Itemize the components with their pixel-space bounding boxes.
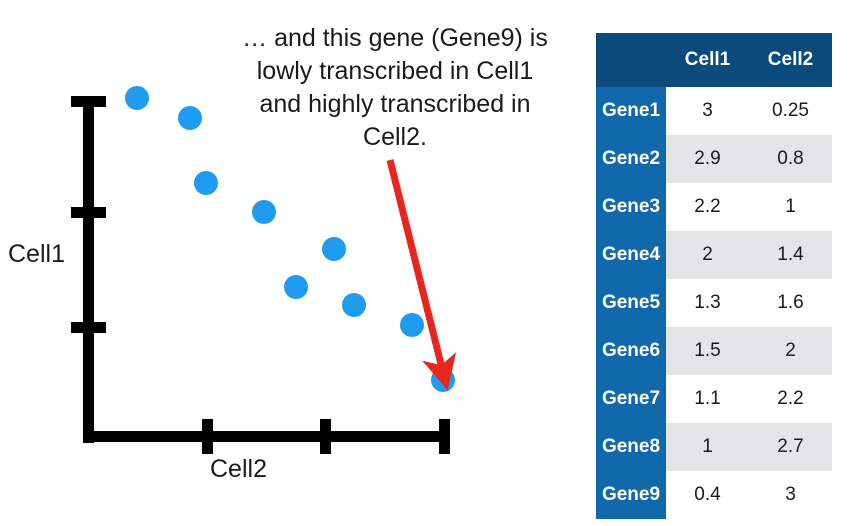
cell-gene6-cell1: 1.5 (666, 327, 749, 375)
cell-gene9-cell1: 0.4 (666, 471, 749, 519)
cell-gene5-cell2: 1.6 (749, 279, 832, 327)
y-axis-tick (71, 322, 106, 333)
x-axis-tick (202, 419, 213, 454)
cell-gene7-cell1: 1.1 (666, 375, 749, 423)
figure-canvas: Cell1 Cell2 … and this gene (Gene9) is l… (0, 0, 867, 526)
data-point-gene8 (400, 313, 424, 337)
table-row: Gene90.43 (596, 471, 832, 519)
cell-gene8-cell2: 2.7 (749, 423, 832, 471)
cell-gene4-cell2: 1.4 (749, 231, 832, 279)
column-header-cell2: Cell2 (749, 33, 832, 87)
x-axis-tick (320, 419, 331, 454)
row-header-gene7: Gene7 (596, 375, 666, 423)
row-header-gene8: Gene8 (596, 423, 666, 471)
y-axis-tick (71, 207, 106, 218)
x-axis-label: Cell2 (210, 455, 267, 484)
cell-gene2-cell2: 0.8 (749, 135, 832, 183)
row-header-gene9: Gene9 (596, 471, 666, 519)
column-header-cell1: Cell1 (666, 33, 749, 87)
data-point-gene5 (322, 237, 346, 261)
table-header-row: Cell1 Cell2 (596, 33, 832, 87)
row-header-gene2: Gene2 (596, 135, 666, 183)
cell-gene4-cell1: 2 (666, 231, 749, 279)
annotation-text: … and this gene (Gene9) is lowly transcr… (205, 22, 585, 154)
row-header-gene3: Gene3 (596, 183, 666, 231)
cell-gene1-cell1: 3 (666, 87, 749, 135)
x-axis-tick (439, 419, 450, 454)
cell-gene7-cell2: 2.2 (749, 375, 832, 423)
table-row: Gene71.12.2 (596, 375, 832, 423)
y-axis-label: Cell1 (8, 240, 65, 269)
cell-gene5-cell1: 1.3 (666, 279, 749, 327)
table-row: Gene421.4 (596, 231, 832, 279)
data-point-gene1 (125, 86, 149, 110)
table-row: Gene32.21 (596, 183, 832, 231)
cell-gene3-cell2: 1 (749, 183, 832, 231)
row-header-gene6: Gene6 (596, 327, 666, 375)
cell-gene2-cell1: 2.9 (666, 135, 749, 183)
data-point-gene9 (431, 368, 455, 392)
row-header-gene1: Gene1 (596, 87, 666, 135)
table-row: Gene51.31.6 (596, 279, 832, 327)
cell-gene6-cell2: 2 (749, 327, 832, 375)
data-point-gene7 (342, 293, 366, 317)
cell-gene3-cell1: 2.2 (666, 183, 749, 231)
gene-expression-table: Cell1 Cell2 Gene130.25Gene22.90.8Gene32.… (596, 33, 832, 519)
cell-gene9-cell2: 3 (749, 471, 832, 519)
y-axis-tick (71, 96, 106, 107)
row-header-gene4: Gene4 (596, 231, 666, 279)
data-point-gene4 (252, 200, 276, 224)
data-point-gene6 (284, 275, 308, 299)
cell-gene1-cell2: 0.25 (749, 87, 832, 135)
table-corner-cell (596, 33, 666, 87)
y-axis-line (83, 96, 94, 443)
table-body: Gene130.25Gene22.90.8Gene32.21Gene421.4G… (596, 87, 832, 519)
row-header-gene5: Gene5 (596, 279, 666, 327)
table-row: Gene812.7 (596, 423, 832, 471)
x-axis-line (83, 431, 450, 442)
table-row: Gene130.25 (596, 87, 832, 135)
cell-gene8-cell1: 1 (666, 423, 749, 471)
data-point-gene2 (178, 106, 202, 130)
table-row: Gene22.90.8 (596, 135, 832, 183)
table-row: Gene61.52 (596, 327, 832, 375)
data-point-gene3 (194, 171, 218, 195)
